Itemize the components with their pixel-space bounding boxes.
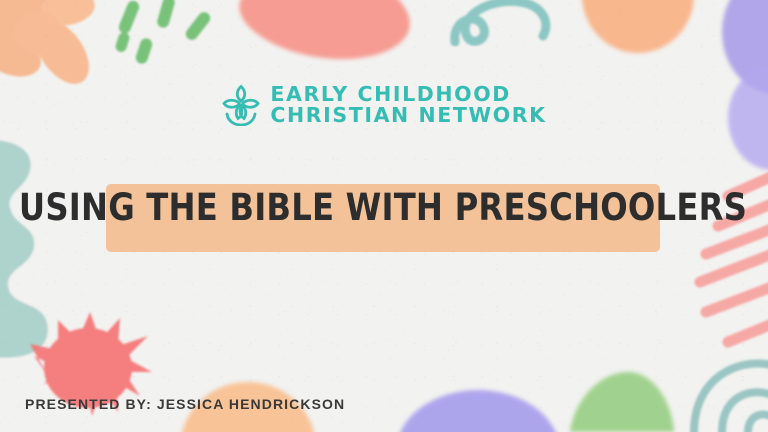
slide-content: EARLY CHILDHOOD CHRISTIAN NETWORK USING … (0, 0, 768, 432)
brand-logo: EARLY CHILDHOOD CHRISTIAN NETWORK (0, 84, 768, 126)
brand-logo-line-2: CHRISTIAN NETWORK (270, 105, 546, 126)
presenter-credit: PRESENTED BY: JESSICA HENDRICKSON (25, 396, 345, 412)
slide-canvas: EARLY CHILDHOOD CHRISTIAN NETWORK USING … (0, 0, 768, 432)
brand-logo-text: EARLY CHILDHOOD CHRISTIAN NETWORK (270, 84, 546, 126)
page-title: USING THE BIBLE WITH PRESCHOOLERS (114, 181, 651, 233)
sprout-leaves-icon (221, 84, 261, 126)
brand-logo-line-1: EARLY CHILDHOOD (270, 84, 546, 105)
